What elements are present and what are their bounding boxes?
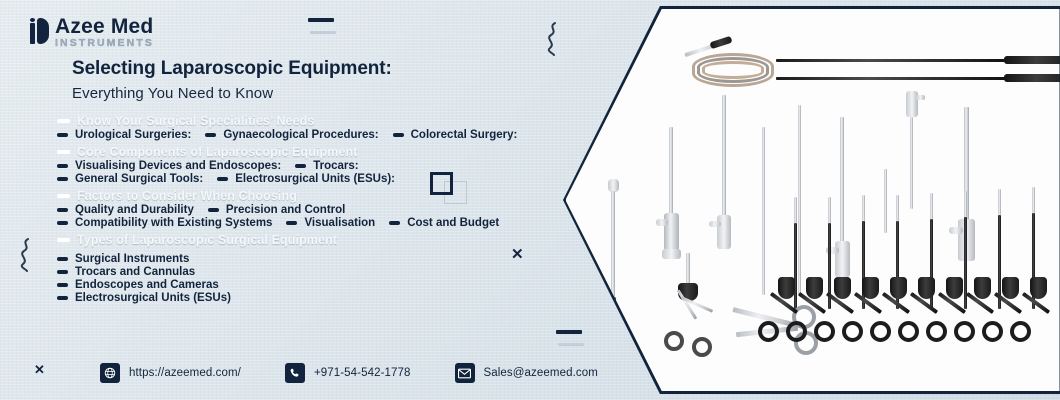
squiggle-decoration-left bbox=[18, 238, 34, 277]
dash-bullet-icon bbox=[208, 208, 219, 212]
sub-item-label: General Surgical Tools: bbox=[75, 173, 203, 185]
dash-bullet-icon bbox=[57, 208, 68, 212]
dash-bullet-icon bbox=[217, 177, 228, 181]
sub-item-label: Trocars: bbox=[313, 160, 358, 172]
sub-item-label: Cost and Budget bbox=[407, 217, 499, 229]
dash-bullet-icon bbox=[286, 221, 297, 225]
list-item: Urological Surgeries: Gynaecological Pro… bbox=[57, 129, 527, 141]
squiggle-decoration-top bbox=[545, 22, 561, 61]
headline-block: Selecting Laparoscopic Equipment: Everyt… bbox=[72, 58, 392, 102]
section-heading: Types of Laparoscopic Surgical Equipment bbox=[77, 233, 337, 247]
phone-icon bbox=[285, 363, 305, 383]
list-item: Electrosurgical Units (ESUs) bbox=[57, 292, 527, 304]
list-item: Visualising Devices and Endoscopes: Troc… bbox=[57, 160, 527, 172]
email-text: Sales@azeemed.com bbox=[484, 367, 598, 379]
globe-icon bbox=[100, 363, 120, 383]
page-subtitle: Everything You Need to Know bbox=[72, 85, 392, 102]
sub-item-label: Visualisation bbox=[304, 217, 375, 229]
section-heading: Factors to Consider When Choosing bbox=[77, 189, 297, 203]
dash-bullet-icon bbox=[389, 221, 400, 225]
list-item: Types of Laparoscopic Surgical Equipment bbox=[57, 233, 527, 247]
long-needle-instrument bbox=[776, 75, 1060, 81]
x-decoration-bottom: ✕ bbox=[34, 363, 45, 376]
dash-bullet-icon bbox=[57, 119, 70, 123]
list-item: General Surgical Tools: Electrosurgical … bbox=[57, 173, 527, 185]
dash-bullet-icon bbox=[57, 194, 70, 198]
dash-bullet-icon bbox=[57, 177, 68, 181]
list-item: Know Your Surgical Specialities’ Needs bbox=[57, 114, 527, 128]
instruments-photo bbox=[566, 9, 1060, 391]
dash-bullet-icon bbox=[57, 150, 70, 154]
sub-item-label: Precision and Control bbox=[226, 204, 346, 216]
contact-phone[interactable]: +971-54-542-1778 bbox=[285, 363, 411, 383]
dash-bullet-icon bbox=[57, 238, 70, 242]
brand-name: Azee Med bbox=[55, 16, 154, 37]
dash-bullet-icon bbox=[57, 221, 68, 225]
page-title: Selecting Laparoscopic Equipment: bbox=[72, 58, 392, 80]
section-heading: Know Your Surgical Specialities’ Needs bbox=[77, 114, 314, 128]
dash-bullet-icon bbox=[57, 133, 68, 137]
list-item: Quality and Durability Precision and Con… bbox=[57, 204, 527, 216]
scissors-instrument bbox=[662, 253, 732, 363]
bottom-dash-decoration bbox=[556, 330, 584, 346]
sub-item-label: Electrosurgical Units (ESUs) bbox=[75, 292, 231, 304]
list-item: Surgical Instruments bbox=[57, 253, 527, 265]
sub-item-label: Gynaecological Procedures: bbox=[223, 129, 378, 141]
sub-item-label: Visualising Devices and Endoscopes: bbox=[75, 160, 281, 172]
azee-monogram-icon bbox=[30, 18, 50, 44]
section-heading: Core Components of Laparoscopic Equipmen… bbox=[77, 145, 358, 159]
sub-item-label: Urological Surgeries: bbox=[75, 129, 191, 141]
long-needle-instrument bbox=[776, 57, 1060, 63]
website-text: https://azeemed.com/ bbox=[129, 367, 241, 379]
sub-item-label: Colorectal Surgery: bbox=[411, 129, 518, 141]
dash-bullet-icon bbox=[295, 164, 306, 168]
light-cable-instrument bbox=[686, 45, 782, 93]
sub-item-label: Electrosurgical Units (ESUs): bbox=[235, 173, 395, 185]
brand-subtitle: INSTRUMENTS bbox=[55, 38, 154, 49]
list-item: Compatibility with Existing Systems Visu… bbox=[57, 217, 527, 229]
list-item: Endoscopes and Cameras bbox=[57, 279, 527, 291]
sub-item-label: Surgical Instruments bbox=[75, 253, 189, 265]
list-item: Core Components of Laparoscopic Equipmen… bbox=[57, 145, 527, 159]
dash-bullet-icon bbox=[205, 133, 216, 137]
contact-website[interactable]: https://azeemed.com/ bbox=[100, 363, 241, 383]
sub-item-label: Compatibility with Existing Systems bbox=[75, 217, 272, 229]
sub-item-label: Endoscopes and Cameras bbox=[75, 279, 219, 291]
outline-list: Know Your Surgical Specialities’ Needs U… bbox=[57, 110, 527, 305]
top-dash-decoration bbox=[308, 18, 336, 34]
sub-item-label: Quality and Durability bbox=[75, 204, 194, 216]
brand-logo[interactable]: Azee Med INSTRUMENTS bbox=[30, 16, 154, 49]
contact-email[interactable]: Sales@azeemed.com bbox=[455, 363, 598, 383]
envelope-icon bbox=[455, 363, 475, 383]
list-item: Trocars and Cannulas bbox=[57, 266, 527, 278]
dash-bullet-icon bbox=[57, 296, 68, 300]
phone-text: +971-54-542-1778 bbox=[314, 367, 411, 379]
dash-bullet-icon bbox=[393, 133, 404, 137]
contact-footer: https://azeemed.com/ +971-54-542-1778 Sa… bbox=[100, 363, 598, 383]
list-item: Factors to Consider When Choosing bbox=[57, 189, 527, 203]
dash-bullet-icon bbox=[57, 164, 68, 168]
dash-bullet-icon bbox=[57, 257, 68, 261]
dash-bullet-icon bbox=[57, 270, 68, 274]
dash-bullet-icon bbox=[57, 283, 68, 287]
poster-canvas: Azee Med INSTRUMENTS Selecting Laparosco… bbox=[0, 0, 1060, 400]
sub-item-label: Trocars and Cannulas bbox=[75, 266, 195, 278]
